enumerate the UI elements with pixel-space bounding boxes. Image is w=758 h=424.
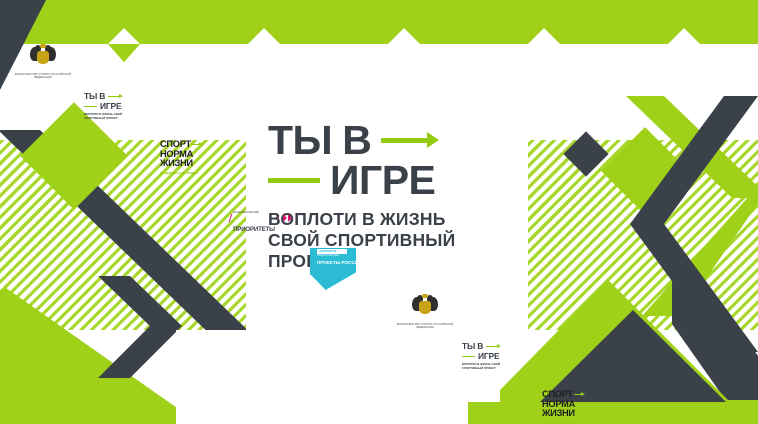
logo-line-3: ЖИЗНИ [542, 409, 590, 419]
white-gap-band-bottom [176, 330, 302, 424]
main-lockup: ТЫ В ИГРЕ ВОПЛОТИ В ЖИЗНЬ СВОЙ СПОРТИВНЫ… [268, 118, 508, 272]
logo-sport-norma-zhizni-2: СПОРТ НОРМА ЖИЗНИ Федеральный проект [542, 390, 590, 424]
logo-sport-norma-zhizni-1: СПОРТ НОРМА ЖИЗНИ Федеральный проект [160, 140, 208, 188]
partner-logo-strip: Министерство спорта Российской Федерации… [0, 44, 758, 92]
logo-caption: Воплоти в жизнь свой спортивный проект [462, 363, 518, 370]
russian-coat-of-arms-icon [30, 44, 56, 70]
logo-line-1: Национальные [233, 210, 259, 214]
logo-caption: Министерство спорта Российской Федерации [14, 73, 72, 80]
green-base-strip-bottom-right [468, 400, 758, 424]
logo-caption: Федеральный проект [160, 171, 208, 175]
headline-word-igre: ИГРЕ [330, 160, 435, 201]
arrow-right-icon [108, 94, 123, 99]
logo-line-2: ПРИОРИТЕТЫ [233, 227, 275, 233]
arrow-right-icon [486, 344, 501, 349]
dash-icon [268, 178, 320, 183]
dash-icon [84, 106, 97, 108]
arrow-right-icon [381, 132, 439, 148]
chevron-right-icon [283, 214, 292, 222]
banner-canvas: Министерство спорта Российской Федерации… [0, 0, 758, 424]
subtitle-line-3: ПРОЕКТ [268, 251, 508, 272]
top-green-band [0, 0, 758, 44]
arrow-right-icon [192, 142, 203, 147]
subtitle-line-1: ВОПЛОТИ В ЖИЗНЬ [268, 209, 508, 230]
logo-caption: Воплоти в жизнь свой спортивный проект [84, 113, 140, 120]
logo-minsport-emblem-2: Министерство спорта Российской Федерации [396, 294, 454, 342]
logo-line-2: проекты России [317, 260, 361, 266]
logo-line-2: ИГРЕ [478, 352, 499, 361]
logo-nacionalnye-prioritety-1: Национальные ПРИОРИТЕТЫ [230, 188, 292, 248]
logo-caption: Министерство спорта Российской Федерации [396, 323, 454, 330]
logo-line-1: ТЫ В [84, 92, 105, 101]
russian-coat-of-arms-icon [412, 294, 438, 320]
logo-line-3: ЖИЗНИ [160, 159, 208, 169]
subtitle-block: ВОПЛОТИ В ЖИЗНЬ СВОЙ СПОРТИВНЫЙ ПРОЕКТ [268, 209, 508, 272]
dash-icon [462, 356, 475, 358]
logo-line-1: ТЫ В [462, 342, 483, 351]
logo-line-2: ИГРЕ [100, 102, 121, 111]
headline-line-1: ТЫ В [268, 118, 508, 162]
subtitle-line-2: СВОЙ СПОРТИВНЫЙ [268, 230, 508, 251]
logo-tag: Нацпроекты [319, 250, 336, 253]
logo-minsport-emblem-1: Министерство спорта Российской Федерации [14, 44, 72, 92]
arrow-right-icon [574, 392, 585, 397]
logo-nacproekty-rossii-1: Нацпроекты Национальные проекты России [310, 246, 364, 292]
green-base-strip-bottom-left [0, 400, 140, 424]
logo-ty-v-igre-1: ТЫ В ИГРЕ Воплоти в жизнь свой спортивны… [84, 92, 140, 140]
headline-word-ty: ТЫ [268, 120, 332, 161]
headline-line-2: ИГРЕ [268, 158, 508, 202]
logo-line-1: Национальные [317, 254, 339, 257]
logo-ty-v-igre-2: ТЫ В ИГРЕ Воплоти в жизнь свой спортивны… [462, 342, 518, 390]
headline-word-v: В [342, 120, 371, 161]
